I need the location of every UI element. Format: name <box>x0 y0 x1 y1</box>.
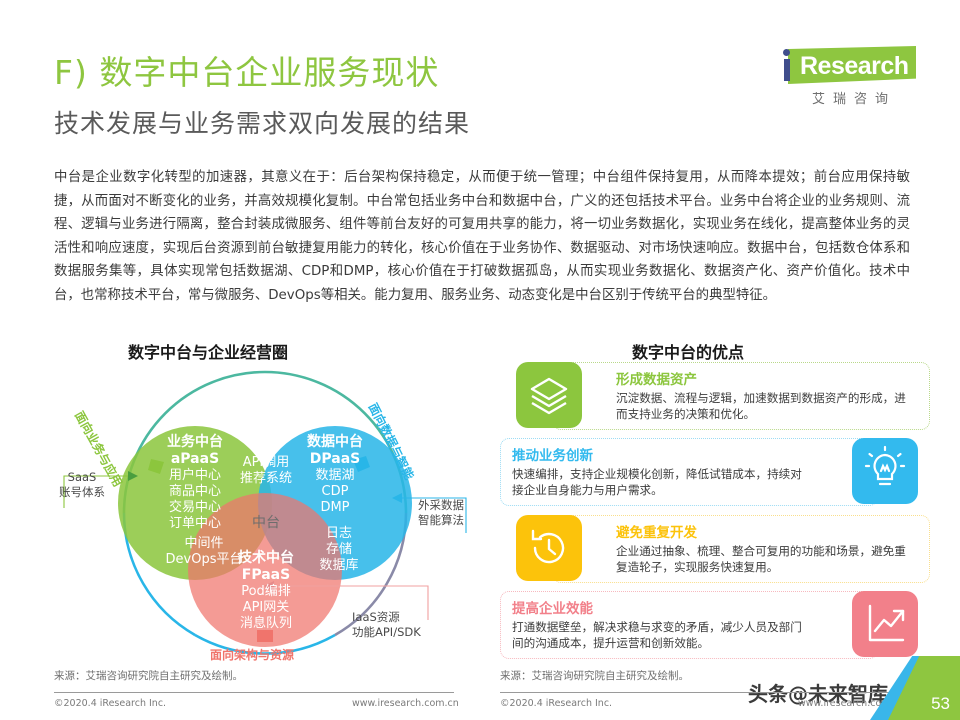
tech-subtitle: FPaaS <box>213 567 319 584</box>
benefits-card-list: 形成数据资产 沉淀数据、流程与逻辑，加速数据到数据资产的形成，进而支持业务的决策… <box>500 360 930 665</box>
benefit-card-2[interactable]: 推动业务创新 快速编排，支持企业规模化创新，降低试错成本，持续对接企业自身能力与… <box>500 438 930 506</box>
footer-divider-right <box>500 692 900 693</box>
card-1-text: 形成数据资产 沉淀数据、流程与逻辑，加速数据到数据资产的形成，进而支持业务的决策… <box>616 368 906 422</box>
page-subtitle: 技术发展与业务需求双向发展的结果 <box>54 104 470 140</box>
overlap-bd-1: 推荐系统 <box>228 471 304 487</box>
footer-url-left: www.iresearch.com.cn <box>352 698 459 709</box>
card-4-desc: 打通数据壁垒，解决求稳与求变的矛盾，减少人员及部门间的沟通成本，提升运营和创新效… <box>512 619 802 651</box>
body-paragraph: 中台是企业数字化转型的加速器，其意义在于：后台架构保持稳定，从而便于统一管理；中… <box>54 166 910 307</box>
tech-item-0: Pod编排 <box>213 584 319 600</box>
callout-br-0: IaaS资源 <box>352 610 421 625</box>
venn-overlap-business-data: API调用 推荐系统 <box>228 455 304 487</box>
overlap-dt-2: 数据库 <box>312 558 366 574</box>
iresearch-logo: Research 艾瑞咨询 <box>774 46 916 108</box>
benefit-card-1[interactable]: 形成数据资产 沉淀数据、流程与逻辑，加速数据到数据资产的形成，进而支持业务的决策… <box>500 362 930 430</box>
page-title: F) 数字中台企业服务现状 <box>54 46 439 94</box>
logo-chinese-name: 艾瑞咨询 <box>792 88 916 107</box>
callout-right-1: 智能算法 <box>418 513 464 528</box>
trend-chart-icon <box>852 591 918 657</box>
left-source-note: 来源：艾瑞咨询研究院自主研究及绘制。 <box>54 668 243 683</box>
callout-br-1: 功能API/SDK <box>352 625 421 640</box>
page-number: 53 <box>931 694 950 714</box>
benefit-card-4[interactable]: 提高企业效能 打通数据壁垒，解决求稳与求变的矛盾，减少人员及部门间的沟通成本，提… <box>500 591 930 659</box>
arc-label-bottom: 面向架构与资源 <box>210 646 294 663</box>
logo-i-bar <box>784 59 790 81</box>
venn-overlap-business-tech: 中间件 DevOps平台 <box>162 536 246 568</box>
card-2-title: 推动业务创新 <box>512 444 802 464</box>
overlap-dt-1: 存储 <box>312 542 366 558</box>
card-4-title: 提高企业效能 <box>512 597 802 617</box>
card-3-desc: 企业通过抽象、梳理、整合可复用的功能和场景，避免重复造轮子，实现服务快速复用。 <box>616 543 906 575</box>
card-1-desc: 沉淀数据、流程与逻辑，加速数据到数据资产的形成，进而支持业务的决策和优化。 <box>616 390 906 422</box>
card-3-text: 避免重复开发 企业通过抽象、梳理、整合可复用的功能和场景，避免重复造轮子，实现服… <box>616 521 906 575</box>
overlap-bt-1: DevOps平台 <box>162 552 246 568</box>
callout-left-1: 账号体系 <box>50 485 114 500</box>
footer-divider-left <box>54 692 454 693</box>
venn-diagram: 业务中台 aPaaS 用户中心 商品中心 交易中心 订单中心 数据中台 DPaa… <box>50 358 480 668</box>
data-title: 数据中台 <box>282 434 388 451</box>
card-1-title: 形成数据资产 <box>616 368 906 388</box>
clock-rewind-icon <box>516 515 582 581</box>
callout-right: 外采数据 智能算法 <box>418 498 464 528</box>
tech-item-1: API网关 <box>213 600 319 616</box>
venn-overlap-data-tech: 日志 存储 数据库 <box>312 526 366 574</box>
overlap-dt-0: 日志 <box>312 526 366 542</box>
card-2-text: 推动业务创新 快速编排，支持企业规模化创新，降低试错成本，持续对接企业自身能力与… <box>512 444 802 498</box>
tech-item-2: 消息队列 <box>213 616 319 632</box>
card-3-title: 避免重复开发 <box>616 521 906 541</box>
footer-copyright-left: ©2020.4 iResearch Inc. <box>54 698 166 709</box>
business-item-3: 订单中心 <box>142 516 248 532</box>
callout-bottom-right: IaaS资源 功能API/SDK <box>352 610 421 640</box>
logo-i-dot <box>783 49 790 56</box>
card-2-desc: 快速编排，支持企业规模化创新，降低试错成本，持续对接企业自身能力与用户需求。 <box>512 466 802 498</box>
data-item-2: DMP <box>282 500 388 516</box>
business-title: 业务中台 <box>142 434 248 451</box>
overlap-bd-0: API调用 <box>228 455 304 471</box>
card-4-text: 提高企业效能 打通数据壁垒，解决求稳与求变的矛盾，减少人员及部门间的沟通成本，提… <box>512 597 802 651</box>
business-item-2: 交易中心 <box>142 500 248 516</box>
overlap-bt-0: 中间件 <box>162 536 246 552</box>
overlap-center: 中台 <box>236 515 296 531</box>
logo-wordmark: Research <box>800 52 909 81</box>
layers-icon <box>516 362 582 428</box>
venn-overlap-center: 中台 <box>236 515 296 531</box>
callout-right-0: 外采数据 <box>418 498 464 513</box>
callout-left-0: SaaS <box>50 470 114 485</box>
slide-page: F) 数字中台企业服务现状 技术发展与业务需求双向发展的结果 Research … <box>0 0 960 720</box>
footer-copyright-right: ©2020.4 iResearch Inc. <box>500 698 612 709</box>
lightbulb-icon <box>852 438 918 504</box>
benefit-card-3[interactable]: 避免重复开发 企业通过抽象、梳理、整合可复用的功能和场景，避免重复造轮子，实现服… <box>500 515 930 583</box>
callout-left: SaaS 账号体系 <box>50 470 114 500</box>
right-source-note: 来源：艾瑞咨询研究院自主研究及绘制。 <box>500 668 689 683</box>
